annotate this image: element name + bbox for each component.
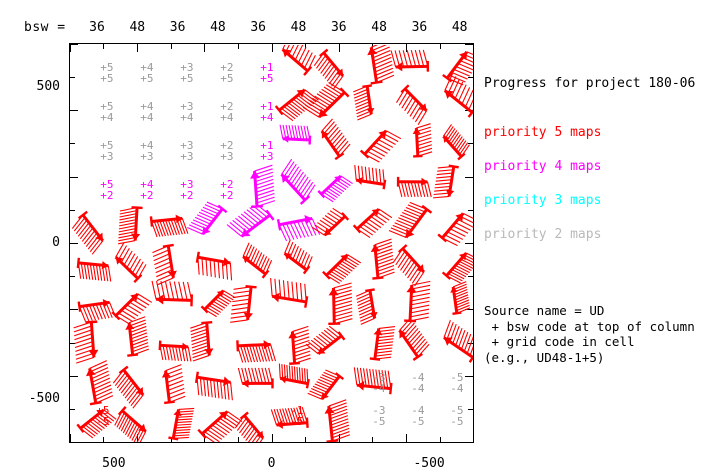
map-comb-glyph — [393, 240, 434, 281]
map-comb-glyph — [388, 323, 429, 364]
grid-code-cell: -5 -5 — [450, 405, 463, 427]
bsw-label: bsw = — [24, 20, 66, 35]
grid-code-cell: -4 -4 — [411, 372, 424, 394]
legend-item-priority3: priority 3 maps — [484, 193, 601, 208]
y-axis-label-1: 0 — [8, 235, 60, 250]
grid-code-cell: +2 +3 — [220, 140, 233, 162]
bsw-value-col6: 48 — [284, 20, 314, 35]
map-comb-glyph — [349, 200, 387, 238]
grid-code-cell: +5 +5 — [100, 62, 113, 84]
bsw-value-col1: 36 — [82, 20, 112, 35]
grid-code-cell: +1 +5 — [260, 62, 273, 84]
map-comb-glyph — [278, 244, 313, 279]
grid-code-cell: -3 -5 — [372, 405, 385, 427]
map-comb-glyph — [147, 200, 187, 240]
grid-code-cell: +3 +5 — [180, 62, 193, 84]
y-axis-label-2: -500 — [8, 391, 60, 406]
bsw-value-col3: 36 — [163, 20, 193, 35]
grid-code-cell: +5 +3 — [100, 140, 113, 162]
map-comb-glyph — [432, 162, 471, 201]
page-title: Progress for project 180-06 — [484, 76, 695, 91]
y-axis-label-0: 500 — [8, 79, 60, 94]
map-comb-glyph — [314, 168, 348, 202]
map-comb-glyph — [233, 324, 275, 366]
bsw-value-col10: 48 — [445, 20, 475, 35]
grid-code-cell: +3 +4 — [180, 101, 193, 123]
grid-code-cell: +2 +5 — [220, 62, 233, 84]
map-comb-glyph — [311, 124, 350, 163]
source-note: Source name = UD + bsw code at top of co… — [484, 303, 695, 365]
bsw-value-col7: 36 — [324, 20, 354, 35]
map-comb-glyph — [274, 200, 317, 243]
map-comb-glyph — [318, 246, 356, 284]
map-comb-glyph — [267, 277, 311, 321]
bsw-header-row: bsw = 36483648364836483648 — [0, 20, 480, 38]
map-comb-glyph — [436, 325, 473, 370]
bsw-value-col2: 48 — [122, 20, 152, 35]
grid-code-cell: +2 +4 — [220, 101, 233, 123]
grid-code-cell: +5 +2 — [100, 179, 113, 201]
grid-code-cell: +4 +3 — [140, 140, 153, 162]
map-comb-glyph — [187, 318, 229, 360]
grid-code-cell: +1 +4 — [260, 101, 273, 123]
bsw-value-col5: 36 — [243, 20, 273, 35]
grid-code-cell: +3 +2 — [180, 179, 193, 201]
grid-code-cell: +4 +4 — [140, 101, 153, 123]
map-comb-glyph — [110, 318, 152, 360]
grid-code-cell: +5 -5 — [96, 405, 109, 427]
legend-item-priority2: priority 2 maps — [484, 227, 601, 242]
bsw-value-col8: 48 — [364, 20, 394, 35]
grid-code-cell: +2 +2 — [220, 179, 233, 201]
map-comb-glyph — [438, 283, 472, 317]
map-comb-glyph — [437, 245, 472, 284]
y-tick-right-12 — [465, 442, 473, 443]
map-comb-glyph — [72, 207, 114, 249]
grid-code-cell: -3 -4 — [372, 372, 385, 394]
grid-code-cell: +4 +5 — [140, 62, 153, 84]
map-comb-glyph — [311, 326, 349, 364]
grid-code-cell: -4 -5 — [411, 405, 424, 427]
map-comb-glyph — [354, 286, 391, 323]
legend-item-priority5: priority 5 maps — [484, 125, 601, 140]
grid-code-cell: +5 +4 — [100, 101, 113, 123]
map-comb-glyph — [238, 364, 277, 403]
map-comb-glyph — [235, 408, 273, 442]
bsw-value-col9: 36 — [404, 20, 434, 35]
grid-code-cell: +3 +3 — [180, 140, 193, 162]
y-tick-left-12 — [70, 442, 78, 443]
grid-code-cell: -1 -5 — [290, 405, 303, 427]
map-comb-glyph — [436, 79, 473, 124]
map-comb-glyph — [435, 129, 470, 164]
grid-code-cell: +1 +3 — [260, 140, 273, 162]
map-comb-glyph — [228, 282, 271, 325]
bsw-value-col4: 48 — [203, 20, 233, 35]
map-comb-glyph — [355, 122, 396, 163]
map-comb-glyph — [114, 401, 154, 441]
map-comb-glyph — [308, 401, 353, 441]
x-axis-label-0: 500 — [102, 456, 125, 471]
plot-canvas: +5 +5+4 +5+3 +5+2 +5+1 +5+5 +4+4 +4+3 +4… — [71, 45, 473, 442]
legend-item-priority4: priority 4 maps — [484, 159, 601, 174]
grid-code-cell: +4 +2 — [140, 179, 153, 201]
map-comb-glyph — [351, 82, 387, 118]
x-axis-label-2: -500 — [413, 456, 444, 471]
map-comb-glyph — [197, 283, 231, 317]
x-axis-label-1: 0 — [268, 456, 276, 471]
grid-code-cell: -5 -4 — [450, 372, 463, 394]
